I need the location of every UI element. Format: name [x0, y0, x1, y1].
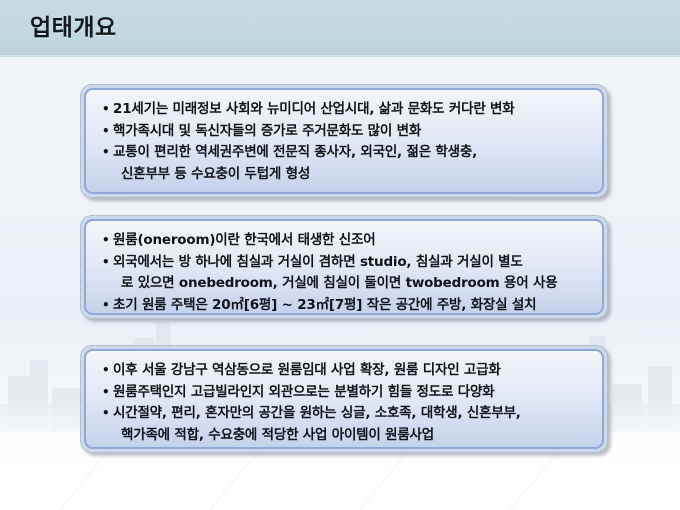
list-item: 원룸(oneroom)이란 한국에서 태생한 신조어: [102, 230, 588, 252]
content-box-2-inner: 원룸(oneroom)이란 한국에서 태생한 신조어 외국에서는 방 하나에 침…: [84, 219, 604, 315]
list-item: 교통이 편리한 역세권주변에 전문직 종사자, 외국인, 젊은 학생충,: [102, 142, 588, 164]
list-item: 21세기는 미래정보 사회와 뉴미디어 산업시대, 삶과 문화도 커다란 변화: [102, 99, 588, 121]
list-item: 이후 서울 강남구 역삼동으로 원룸임대 사업 확장, 원룸 디자인 고급화: [102, 360, 588, 382]
list-item: 초기 원룸 주택은 20㎡[6평] ~ 23㎡[7평] 작은 공간에 주방, 화…: [102, 295, 588, 317]
list-item-continuation: 핵가족에 적합, 수요충에 적당한 사업 아이템이 원룸사업: [102, 425, 588, 447]
presentation-slide: 업태개요 21세기는 미래정보 사회와 뉴미디어 산업시대, 삶과 문화도 커다…: [0, 0, 680, 510]
page-title: 업태개요: [30, 11, 117, 45]
list-item: 핵가족시대 및 독신자들의 증가로 주거문화도 많이 변화: [102, 121, 588, 143]
content-box-2: 원룸(oneroom)이란 한국에서 태생한 신조어 외국에서는 방 하나에 침…: [80, 215, 608, 319]
bullet-list-1: 21세기는 미래정보 사회와 뉴미디어 산업시대, 삶과 문화도 커다란 변화 …: [102, 99, 588, 185]
content-box-3-inner: 이후 서울 강남구 역삼동으로 원룸임대 사업 확장, 원룸 디자인 고급화 원…: [84, 349, 604, 449]
bullet-list-3: 이후 서울 강남구 역삼동으로 원룸임대 사업 확장, 원룸 디자인 고급화 원…: [102, 360, 588, 446]
content-box-1-inner: 21세기는 미래정보 사회와 뉴미디어 산업시대, 삶과 문화도 커다란 변화 …: [84, 88, 604, 194]
content-box-3: 이후 서울 강남구 역삼동으로 원룸임대 사업 확장, 원룸 디자인 고급화 원…: [80, 345, 608, 453]
list-item: 시간절약, 편리, 혼자만의 공간을 원하는 싱글, 소호족, 대학생, 신혼부…: [102, 403, 588, 425]
list-item-continuation: 로 있으면 onebedroom, 거실에 침실이 둘이면 twobedroom…: [102, 273, 588, 295]
bullet-list-2: 원룸(oneroom)이란 한국에서 태생한 신조어 외국에서는 방 하나에 침…: [102, 230, 588, 316]
content-box-1: 21세기는 미래정보 사회와 뉴미디어 산업시대, 삶과 문화도 커다란 변화 …: [80, 84, 608, 198]
list-item: 원룸주택인지 고급빌라인지 외관으로는 분별하기 힘들 정도로 다양화: [102, 382, 588, 404]
list-item-continuation: 신혼부부 등 수요충이 두텁게 형성: [102, 164, 588, 186]
list-item: 외국에서는 방 하나에 침실과 거실이 겸하면 studio, 침실과 거실이 …: [102, 252, 588, 274]
